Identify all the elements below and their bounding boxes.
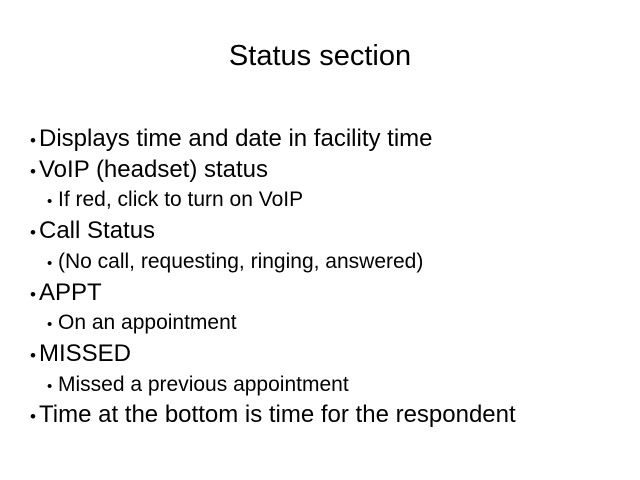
list-item-label: On an appointment — [58, 311, 237, 334]
list-item-label: If red, click to turn on VoIP — [58, 188, 303, 211]
list-item: •Time at the bottom is time for the resp… — [30, 401, 630, 432]
page-title: Status section — [0, 39, 640, 73]
bullet-icon: • — [47, 188, 58, 217]
list-item: •VoIP (headset) status — [30, 156, 630, 187]
list-item-label: Call Status — [39, 217, 155, 244]
list-item: •On an appointment — [30, 309, 630, 340]
list-item-label: (No call, requesting, ringing, answered) — [58, 250, 423, 273]
bullet-icon: • — [47, 311, 58, 340]
bullet-icon: • — [30, 342, 39, 371]
list-item: •Call Status — [30, 217, 630, 248]
bullet-icon: • — [30, 219, 39, 248]
list-item: •(No call, requesting, ringing, answered… — [30, 248, 630, 279]
list-item-label: Missed a previous appointment — [58, 373, 349, 396]
bullet-icon: • — [47, 373, 58, 402]
list-item: •Missed a previous appointment — [30, 371, 630, 402]
bullet-icon: • — [30, 158, 39, 187]
slide-body-content: •Displays time and date in facility time… — [30, 125, 630, 432]
list-item: •If red, click to turn on VoIP — [30, 186, 630, 217]
list-item-label: Displays time and date in facility time — [39, 125, 433, 152]
bullet-icon: • — [30, 281, 39, 310]
list-item-label: MISSED — [39, 340, 131, 367]
bullet-icon: • — [47, 250, 58, 279]
list-item-label: APPT — [39, 279, 102, 306]
bullet-icon: • — [30, 127, 39, 156]
bullet-icon: • — [30, 403, 39, 432]
list-item: •Displays time and date in facility time — [30, 125, 630, 156]
list-item-label: Time at the bottom is time for the respo… — [39, 401, 516, 428]
presentation-slide: Status section •Displays time and date i… — [0, 0, 640, 480]
list-item: •MISSED — [30, 340, 630, 371]
list-item: •APPT — [30, 279, 630, 310]
list-item-label: VoIP (headset) status — [39, 156, 268, 183]
